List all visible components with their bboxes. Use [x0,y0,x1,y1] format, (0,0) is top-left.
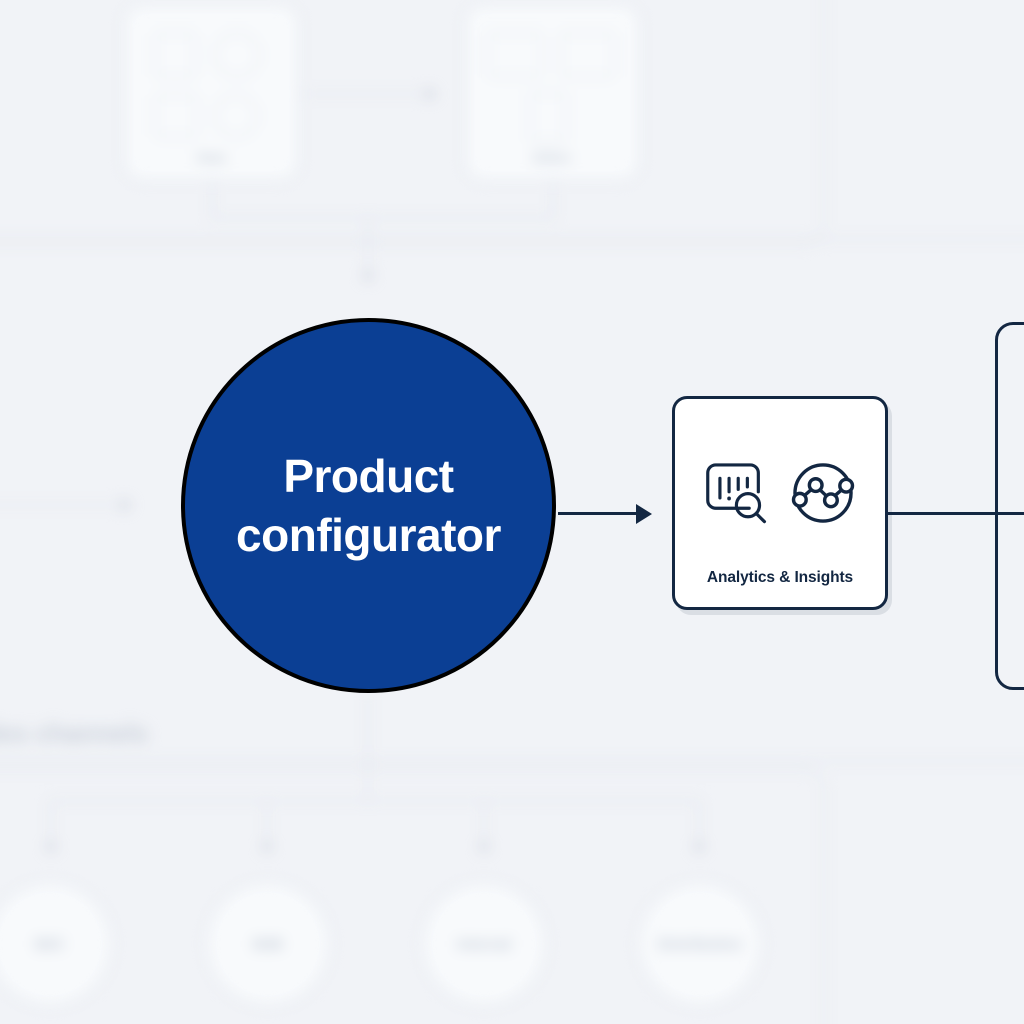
product-configurator-label-line2: configurator [236,509,501,561]
analytics-insights-card-label: Analytics & Insights [675,569,885,587]
analytics-insights-card[interactable]: Analytics & Insights [672,396,888,610]
hero-to-card-arrowhead [636,504,652,524]
product-configurator-node[interactable]: Product configurator [181,318,556,693]
network-trend-circle-icon [784,454,862,532]
analytics-insights-card-icons [675,447,885,539]
chart-search-icon [698,454,776,532]
hero-to-card-arrow-shaft [558,512,646,515]
right-edge-frame[interactable] [995,322,1024,690]
diagram-canvas: Data Editor Sales channels [0,0,1024,1024]
product-configurator-label-line1: Product [283,450,453,502]
product-configurator-label: Product configurator [210,447,527,565]
focused-foreground-layer: Product configurator [0,0,1024,1024]
